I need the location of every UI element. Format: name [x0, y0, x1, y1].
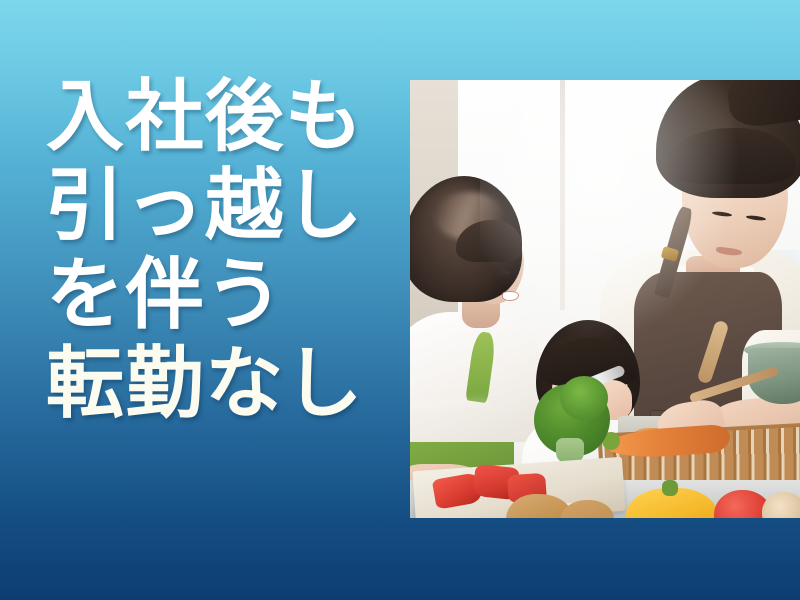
pepper-stem	[662, 480, 678, 496]
fridge-edge	[560, 80, 565, 310]
headline-line-3: を伴う	[46, 250, 396, 339]
broccoli-floret	[560, 376, 608, 420]
headline-line-1: 入社後も	[46, 72, 396, 161]
headline-line-4: 転勤なし	[46, 339, 396, 428]
promo-banner: 入社後も 引っ越し を伴う 転勤なし	[0, 0, 800, 600]
headline-block: 入社後も 引っ越し を伴う 転勤なし	[46, 72, 396, 428]
family-cooking-photo	[410, 80, 800, 518]
headline-line-2: 引っ越し	[46, 161, 396, 250]
